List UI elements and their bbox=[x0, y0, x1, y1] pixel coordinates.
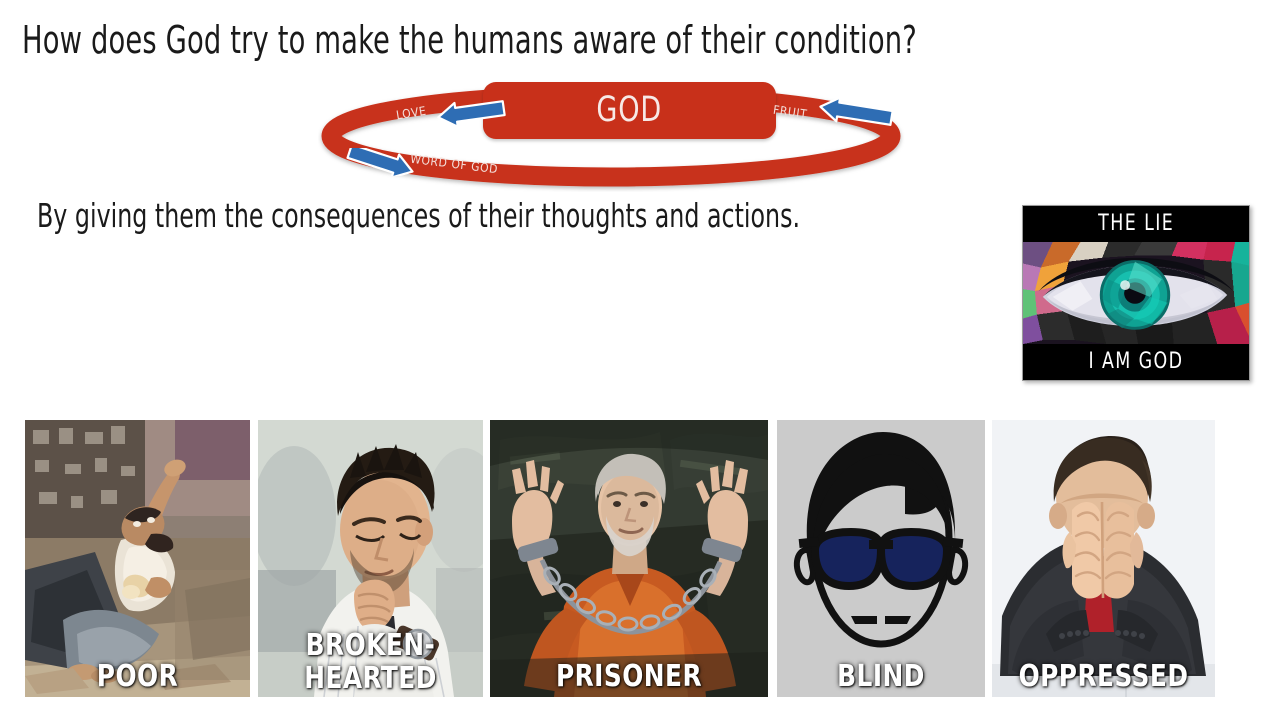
panel-blind: BLIND bbox=[777, 420, 985, 697]
panel-poor: POOR bbox=[25, 420, 250, 697]
oppressed-image bbox=[992, 420, 1215, 697]
poor-image bbox=[25, 420, 250, 697]
panel-prisoner: PRISONER bbox=[490, 420, 768, 697]
prisoner-image bbox=[490, 420, 768, 697]
panel-oppressed: OPPRESSED bbox=[992, 420, 1215, 697]
blind-image bbox=[777, 420, 985, 697]
broken-hearted-image bbox=[258, 420, 483, 697]
panel-broken-hearted: BROKEN- HEARTED bbox=[258, 420, 483, 697]
condition-panels-strip: POOR bbox=[0, 0, 1280, 720]
